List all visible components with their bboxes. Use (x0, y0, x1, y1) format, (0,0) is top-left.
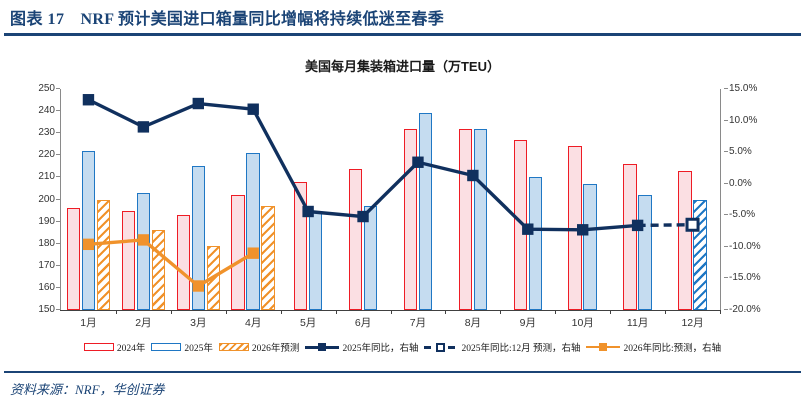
x-axis-tick-label: 12月 (673, 318, 713, 329)
y-axis-right-tick-label: -10.0% (729, 242, 781, 252)
y-axis-left-tick-label: 210 (11, 172, 55, 182)
x-axis-tick-label: 9月 (508, 318, 548, 329)
y-axis-right-tick-label: -20.0% (729, 305, 781, 315)
x-axis-tick-mark (445, 310, 446, 314)
x-axis-tick-label: 4月 (233, 318, 273, 329)
legend-swatch-box (84, 343, 114, 351)
y-axis-right-tick-label: -5.0% (729, 210, 781, 220)
y-axis-left-tick-label: 200 (11, 195, 55, 205)
x-axis-tick-mark (116, 310, 117, 314)
x-axis-tick-mark (555, 310, 556, 314)
marker-5月-2025年同比，右轴 (303, 206, 313, 216)
header-divider (4, 33, 801, 36)
x-axis-tick-mark (720, 310, 721, 314)
legend-item-5[interactable]: 2026年同比:预测，右轴 (586, 340, 721, 354)
legend-item-1[interactable]: 2025年 (151, 340, 213, 354)
x-axis-tick-label: 3月 (178, 318, 218, 329)
y-axis-right-line (720, 89, 721, 311)
x-axis-tick-label: 1月 (68, 318, 108, 329)
page-title: NRF 预计美国进口箱量同比增幅将持续低迷至春季 (81, 5, 445, 29)
legend-label: 2025年同比，右轴 (342, 340, 418, 354)
legend-item-2[interactable]: 2026年预测 (219, 340, 300, 354)
marker-12月-2025年同比:12月 预测，右轴 (687, 219, 698, 230)
y-axis-right-tick-label: 5.0% (729, 147, 781, 157)
x-axis-tick-label: 2月 (123, 318, 163, 329)
footer-divider (4, 371, 801, 373)
x-axis-tick-mark (171, 310, 172, 314)
legend-label: 2025年同比:12月 预测，右轴 (461, 340, 580, 354)
marker-2月-2026年同比:预测，右轴 (138, 235, 148, 245)
y-axis-left-tick-label: 160 (11, 283, 55, 293)
legend-swatch-line (305, 342, 339, 353)
marker-9月-2025年同比，右轴 (523, 224, 533, 234)
y-axis-left-tick-label: 220 (11, 150, 55, 160)
marker-4月-2026年同比:预测，右轴 (248, 248, 258, 258)
marker-8月-2025年同比，右轴 (468, 170, 478, 180)
marker-2月-2025年同比，右轴 (138, 122, 148, 132)
chart-subtitle: 美国每月集装箱进口量（万TEU） (4, 56, 801, 75)
legend-label: 2026年同比:预测，右轴 (623, 340, 721, 354)
line-path (638, 225, 693, 226)
figure-label: 图表 17 (10, 5, 65, 29)
y-axis-right-tick-label: 10.0% (729, 116, 781, 126)
y-axis-left-tick-label: 150 (11, 305, 55, 315)
x-axis-tick-label: 5月 (288, 318, 328, 329)
x-axis-tick-label: 7月 (398, 318, 438, 329)
y-axis-left-tick-label: 180 (11, 239, 55, 249)
x-axis-tick-label: 6月 (343, 318, 383, 329)
chart-area: 美国每月集装箱进口量（万TEU） 15016017018019020021022… (4, 40, 801, 335)
legend-item-0[interactable]: 2024年 (84, 340, 146, 354)
y-axis-left-tick-label: 170 (11, 261, 55, 271)
legend-swatch-hatch (219, 343, 249, 351)
x-axis-tick-mark (391, 310, 392, 314)
legend-label: 2024年 (117, 340, 146, 354)
legend-swatch-line-dashed (424, 342, 458, 353)
x-axis-tick-mark (336, 310, 337, 314)
marker-10月-2025年同比，右轴 (578, 225, 588, 235)
marker-3月-2026年同比:预测，右轴 (193, 281, 203, 291)
plot-region (61, 89, 720, 310)
marker-7月-2025年同比，右轴 (413, 157, 423, 167)
legend-label: 2026年预测 (252, 340, 300, 354)
marker-3月-2025年同比，右轴 (193, 98, 203, 108)
marker-6月-2025年同比，右轴 (358, 211, 368, 221)
marker-1月-2026年同比:预测，右轴 (83, 239, 93, 249)
x-axis-tick-label: 10月 (563, 318, 603, 329)
y-axis-left-tick-label: 190 (11, 217, 55, 227)
y-axis-right-tick-label: 0.0% (729, 179, 781, 189)
x-axis-tick-label: 11月 (618, 318, 658, 329)
marker-1月-2025年同比，右轴 (83, 95, 93, 105)
legend-swatch-line-orange (586, 342, 620, 353)
line-path (88, 100, 637, 230)
x-axis-tick-mark (281, 310, 282, 314)
y-axis-left-tick-label: 230 (11, 128, 55, 138)
line-path (88, 240, 253, 286)
chart-legend: 2024年2025年2026年预测2025年同比，右轴2025年同比:12月 预… (4, 336, 801, 358)
figure-header: 图表 17 NRF 预计美国进口箱量同比增幅将持续低迷至春季 (0, 0, 805, 34)
legend-item-4[interactable]: 2025年同比:12月 预测，右轴 (424, 340, 580, 354)
source-note: 资料来源：NRF，华创证券 (10, 379, 165, 398)
y-axis-left-tick-label: 240 (11, 106, 55, 116)
legend-item-3[interactable]: 2025年同比，右轴 (305, 340, 418, 354)
y-axis-right-tick-label: -15.0% (729, 273, 781, 283)
x-axis-tick-mark (500, 310, 501, 314)
marker-11月-2025年同比，右轴 (632, 220, 642, 230)
legend-swatch-box (151, 343, 181, 351)
y-axis-left-tick-label: 250 (11, 84, 55, 94)
figure-container: 图表 17 NRF 预计美国进口箱量同比增幅将持续低迷至春季 美国每月集装箱进口… (0, 0, 805, 412)
line-series-overlay (61, 89, 720, 310)
legend-label: 2025年 (184, 340, 213, 354)
x-axis-tick-label: 8月 (453, 318, 493, 329)
x-axis-tick-mark (610, 310, 611, 314)
marker-4月-2025年同比，右轴 (248, 104, 258, 114)
x-axis-tick-mark (226, 310, 227, 314)
y-axis-right-tick-label: 15.0% (729, 84, 781, 94)
x-axis-tick-mark (665, 310, 666, 314)
